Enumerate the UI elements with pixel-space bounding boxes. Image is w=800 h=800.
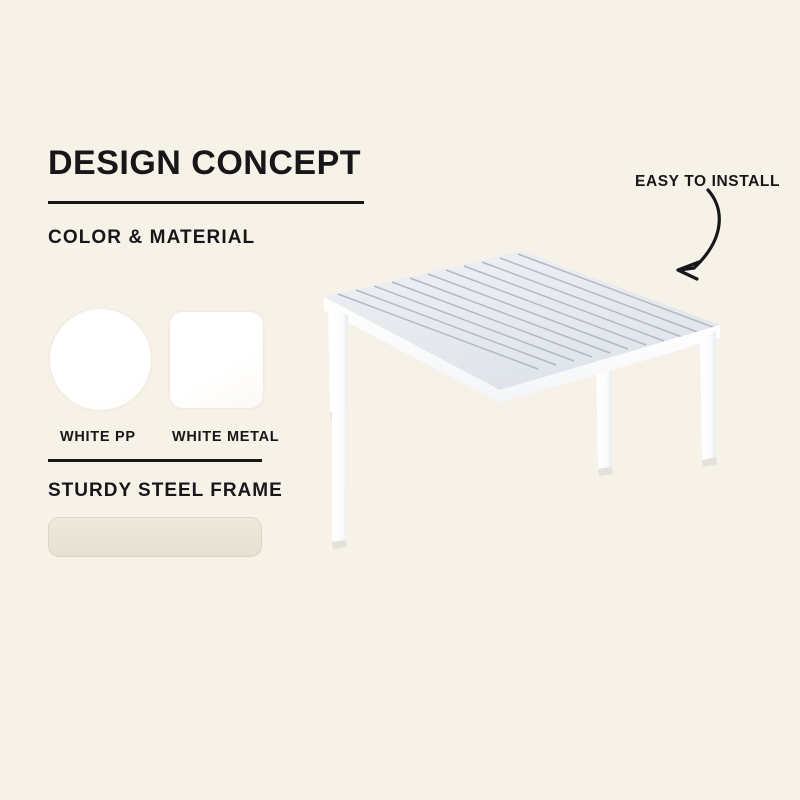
- title-divider: [48, 201, 364, 204]
- swatch-label-white-pp: WHITE PP: [60, 428, 136, 446]
- table-leg-back-right: [596, 357, 613, 476]
- product-image-outdoor-table: [300, 245, 760, 590]
- steel-frame-bar-sample: [48, 517, 262, 557]
- color-material-section-title: COLOR & MATERIAL: [48, 226, 255, 250]
- swatch-divider: [48, 459, 262, 462]
- sturdy-steel-frame-title: STURDY STEEL FRAME: [48, 479, 283, 503]
- table-leg-front-left: [332, 307, 348, 549]
- swatch-white-pp: [50, 309, 151, 410]
- swatch-white-metal: [170, 312, 263, 408]
- swatch-label-white-metal: WHITE METAL: [172, 428, 279, 446]
- page-title: DESIGN CONCEPT: [48, 143, 361, 183]
- infographic-canvas: DESIGN CONCEPT COLOR & MATERIAL WHITE PP…: [0, 0, 800, 800]
- table-leg-front-right: [700, 331, 717, 467]
